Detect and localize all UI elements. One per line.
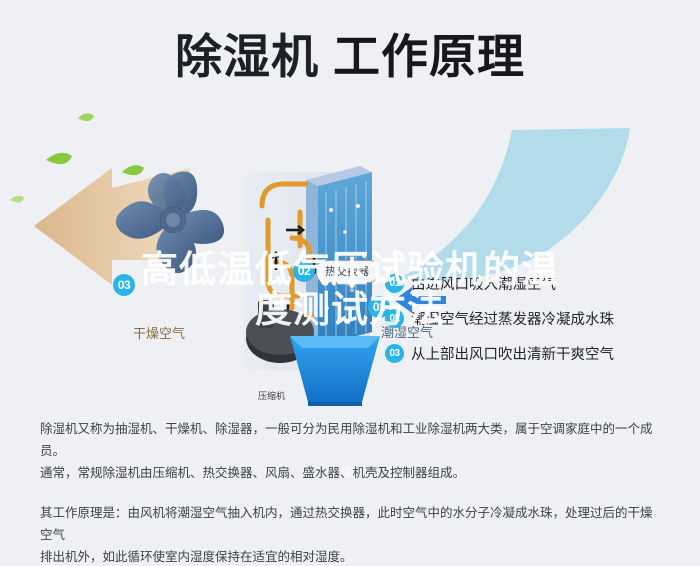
humid-air-flow-shape xyxy=(400,128,630,281)
heat-exchanger-callout: 热交换器 xyxy=(316,260,378,283)
page-title-text: 除湿机 工作原理 xyxy=(175,28,525,86)
paragraph-1-line-2: 通常，常规除湿机由压缩机、热交换器、风扇、盛水器、机壳及控制器组成。 xyxy=(40,466,465,480)
water-tank xyxy=(290,336,380,406)
step-number: 03 xyxy=(385,344,404,363)
page-root: 除湿机 工作原理 xyxy=(0,0,700,566)
paragraph-2-line-2: 排出机外，如此循环使室内湿度保持在适宜的相对湿度。 xyxy=(40,550,353,564)
paragraph-1: 除湿机又称为抽湿机、干燥机、除湿器，一般可分为民用除湿机和工业除湿机两大类，属于… xyxy=(40,418,664,484)
step-text: 潮湿空气经过蒸发器冷凝成水珠 xyxy=(411,308,614,329)
paragraph-2-line-1: 其工作原理是：由风机将潮湿空气抽入机内，通过热交换器，此时空气中的水分子冷凝成水… xyxy=(40,506,653,542)
list-item: 01 由进风口吸入潮湿空气 xyxy=(385,266,614,301)
badge-02: 02 xyxy=(293,260,315,282)
heat-exchanger-coil xyxy=(306,166,372,346)
page-title: 除湿机 工作原理 xyxy=(0,28,700,86)
step-text: 由进风口吸入潮湿空气 xyxy=(411,273,556,294)
title-part-1: 除湿机 xyxy=(175,30,319,83)
step-text: 从上部出风口吹出清新干爽空气 xyxy=(411,343,614,364)
article-body: 除湿机又称为抽湿机、干燥机、除湿器，一般可分为民用除湿机和工业除湿机两大类，属于… xyxy=(40,418,664,566)
list-item: 03 从上部出风口吹出清新干爽空气 xyxy=(385,336,614,371)
title-part-2: 工作原理 xyxy=(333,30,525,83)
paragraph-2: 其工作原理是：由风机将潮湿空气抽入机内，通过热交换器，此时空气中的水分子冷凝成水… xyxy=(40,502,664,566)
paragraph-1-line-1: 除湿机又称为抽湿机、干燥机、除湿器，一般可分为民用除湿机和工业除湿机两大类，属于… xyxy=(40,422,653,458)
compressor-label: 压缩机 xyxy=(258,389,285,402)
badge-03: 03 xyxy=(113,274,135,296)
list-item: 02 潮湿空气经过蒸发器冷凝成水珠 xyxy=(385,301,614,336)
step-number: 02 xyxy=(385,309,404,328)
step-number: 01 xyxy=(385,274,404,293)
dry-air-label: 干燥空气 xyxy=(133,323,185,342)
process-step-list: 01 由进风口吸入潮湿空气 02 潮湿空气经过蒸发器冷凝成水珠 03 从上部出风… xyxy=(385,266,614,371)
